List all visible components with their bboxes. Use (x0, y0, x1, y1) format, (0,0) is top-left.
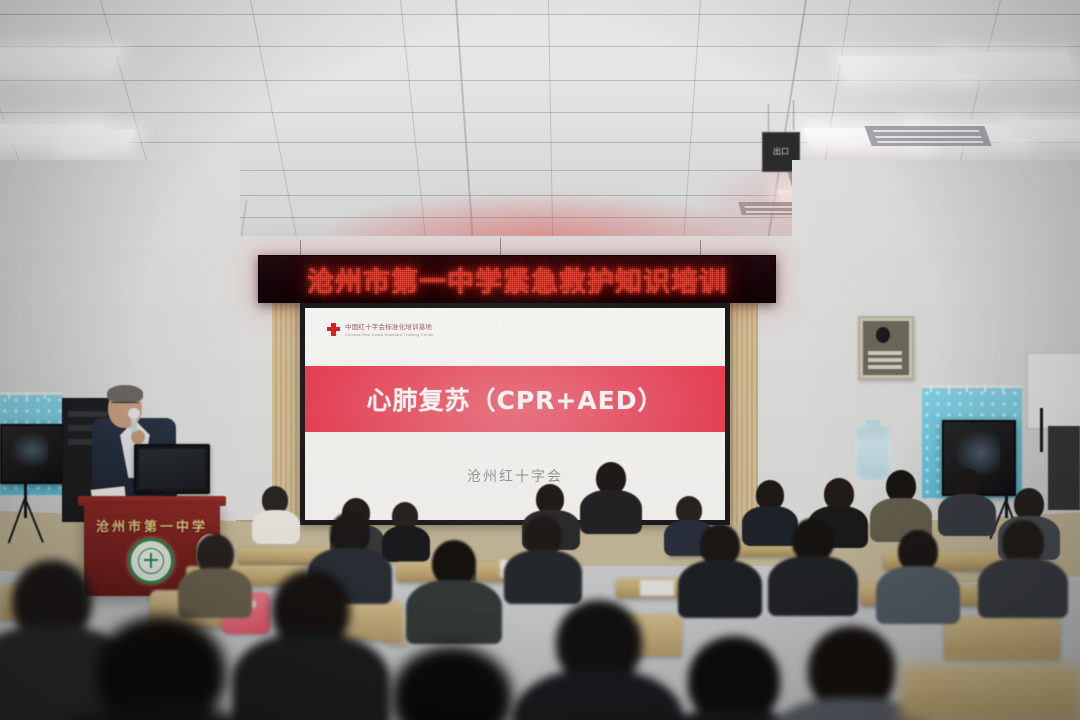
speaker-hand (131, 430, 145, 444)
person-shoulders (768, 556, 858, 616)
slide-title: 心肺复苏（CPR+AED） (366, 381, 663, 417)
person-shoulders (178, 568, 252, 618)
ceiling-grid-line (0, 14, 1080, 15)
podium-school-name: 沧州市第一中学 (84, 516, 220, 535)
chair-back (900, 664, 1080, 720)
curtain-hook (984, 384, 986, 392)
person-shoulders (678, 560, 762, 618)
electrical-knob (876, 327, 890, 343)
person-shoulders (742, 506, 798, 546)
ceiling-grid-line (0, 80, 1080, 81)
slide-logo-cn: 中国红十字会标准化培训基地 (345, 321, 434, 331)
led-banner-wire (500, 238, 501, 256)
tripod-stem-far-right (1040, 408, 1043, 452)
person-shoulders (406, 580, 502, 644)
ceiling-grid-line (250, 0, 302, 263)
room-sign-wire (793, 100, 794, 130)
electrical-breaker-row (868, 358, 902, 362)
vent-slat (875, 136, 981, 138)
person-shoulders (252, 510, 300, 544)
person-shoulders (580, 490, 642, 534)
person-shoulders (382, 526, 430, 562)
person-shoulders (978, 558, 1068, 618)
person-shoulders (232, 634, 390, 720)
projection-screen[interactable]: 中国红十字会标准化培训基地 Chinese Red Cross Standard… (305, 308, 725, 520)
ceiling-grid-line (0, 46, 1080, 47)
chair-back (944, 616, 1060, 660)
electrical-breaker-row (868, 365, 902, 369)
curtain-hook (1002, 384, 1004, 392)
person-head (96, 616, 226, 720)
led-banner: 沧州市第一中学紧急救护知识培训 (258, 255, 776, 303)
red-cross-icon (327, 323, 340, 336)
rack-slot (68, 411, 108, 417)
electrical-panel (858, 316, 914, 380)
podium-monitor[interactable] (134, 444, 210, 494)
window-frame-right (1026, 352, 1080, 430)
electrical-breaker-row (868, 351, 902, 355)
slide-logo-en: Chinese Red Cross Standard Training Cent… (345, 332, 434, 337)
microphone-head (128, 408, 140, 419)
ceiling-vent (864, 126, 991, 146)
person-shoulders (504, 550, 582, 604)
person-shoulders (938, 494, 996, 536)
slide-subtitle: 沧州红十字会 (305, 466, 725, 486)
slide-logo-text: 中国红十字会标准化培训基地 Chinese Red Cross Standard… (345, 321, 434, 337)
led-banner-wire (300, 240, 301, 256)
acoustic-slat-panel-right (728, 300, 758, 525)
school-emblem (128, 538, 174, 584)
curtain-hook (930, 384, 932, 392)
softbox-light-left (0, 424, 66, 484)
person-shoulders (876, 566, 960, 624)
electrical-panel-inner (863, 321, 909, 375)
monitor-screen (139, 449, 205, 489)
vent-slat (877, 141, 983, 143)
led-banner-text: 沧州市第一中学紧急救护知识培训 (307, 260, 727, 299)
ceiling-panel-light (63, 130, 136, 147)
lecture-hall-scene: 出口 沧州市第一中学紧急救护知识培训 中国红十字会标准化培训基地 Chinese… (0, 0, 1080, 720)
softbox-sheen (8, 434, 48, 470)
ceiling-grid-line (548, 0, 554, 268)
school-emblem-inner (138, 548, 165, 575)
water-cooler-jug (855, 426, 891, 480)
person-head (392, 646, 512, 720)
ceiling-grid-line (681, 0, 701, 267)
vent-slat (873, 130, 979, 132)
curtain-hook (8, 391, 10, 399)
ceiling-panel-light (1005, 120, 1080, 138)
ceiling-grid-line (400, 0, 429, 267)
ceiling-panel-light (0, 48, 121, 70)
ceiling-rail (455, 0, 476, 267)
led-banner-wire (700, 240, 701, 256)
paper-sheet (640, 580, 674, 596)
speaker-hair (107, 385, 143, 402)
curtain-hook (44, 391, 46, 399)
ceiling-grid-line (0, 112, 1080, 113)
doorway-right (1048, 426, 1080, 510)
slide-logo: 中国红十字会标准化培训基地 Chinese Red Cross Standard… (327, 321, 434, 337)
ceiling-panel-light (948, 52, 1077, 74)
person-shoulders (512, 670, 684, 720)
curtain-hook (948, 384, 950, 392)
slide-title-band: 心肺复苏（CPR+AED） (305, 366, 725, 432)
curtain-hook (26, 391, 28, 399)
person-head (688, 636, 780, 720)
curtain-hook (966, 384, 968, 392)
